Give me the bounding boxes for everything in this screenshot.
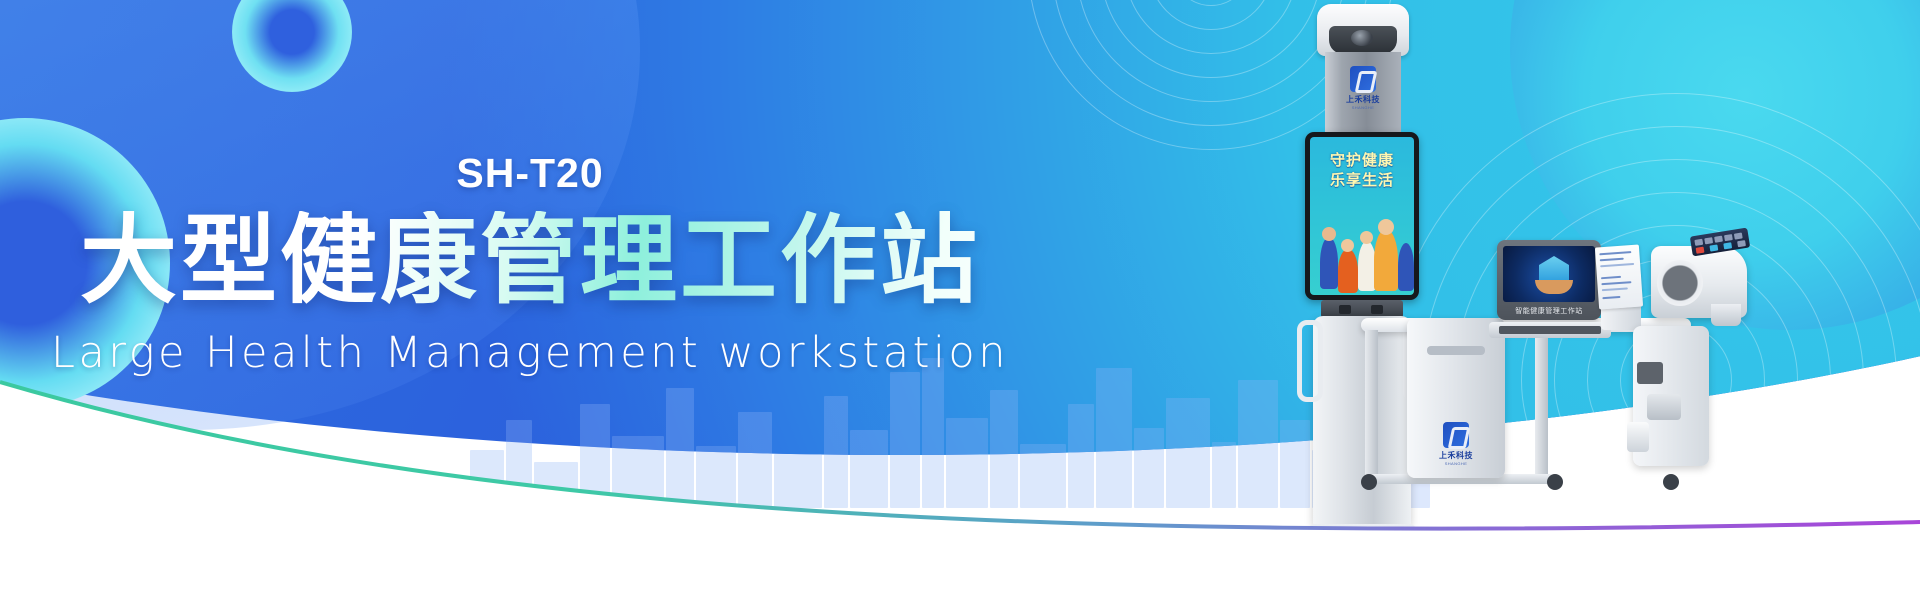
product-hero-banner: SH-T20 大型健康管理工作站 Large Health Management… [0,0,1920,600]
terminal-screen [1503,246,1595,302]
brand-name-cn: 上禾科技 [1339,94,1387,105]
arm-cuff-opening [1657,260,1703,306]
terminal-monitor[interactable]: 智能健康管理工作站 [1497,240,1601,320]
family-illustration [1318,215,1406,293]
kiosk-poster: 守护健康 乐享生活 [1310,137,1414,295]
model-code: SH-T20 [0,150,1060,197]
blood-pressure-monitor [1651,246,1747,318]
kiosk-display-panel[interactable]: 守护健康 乐享生活 [1305,132,1419,300]
divider-white-fill [0,382,1920,600]
page-title: 大型健康管理工作站 [0,211,1060,312]
brand-mark-icon [1350,66,1376,92]
divider-svg [0,310,1920,600]
poster-headline-2: 乐享生活 [1310,169,1414,190]
camera-lens-icon [1351,30,1373,46]
poster-headline-1: 守护健康 [1310,149,1414,170]
curved-divider [0,310,1920,600]
kiosk-brand-logo: 上禾科技 SHANGHE [1339,66,1387,110]
brand-name-en: SHANGHE [1339,105,1387,110]
bp-control-panel[interactable] [1690,228,1750,257]
caring-hands-icon [1535,280,1573,294]
printed-report-sheet [1595,245,1643,310]
